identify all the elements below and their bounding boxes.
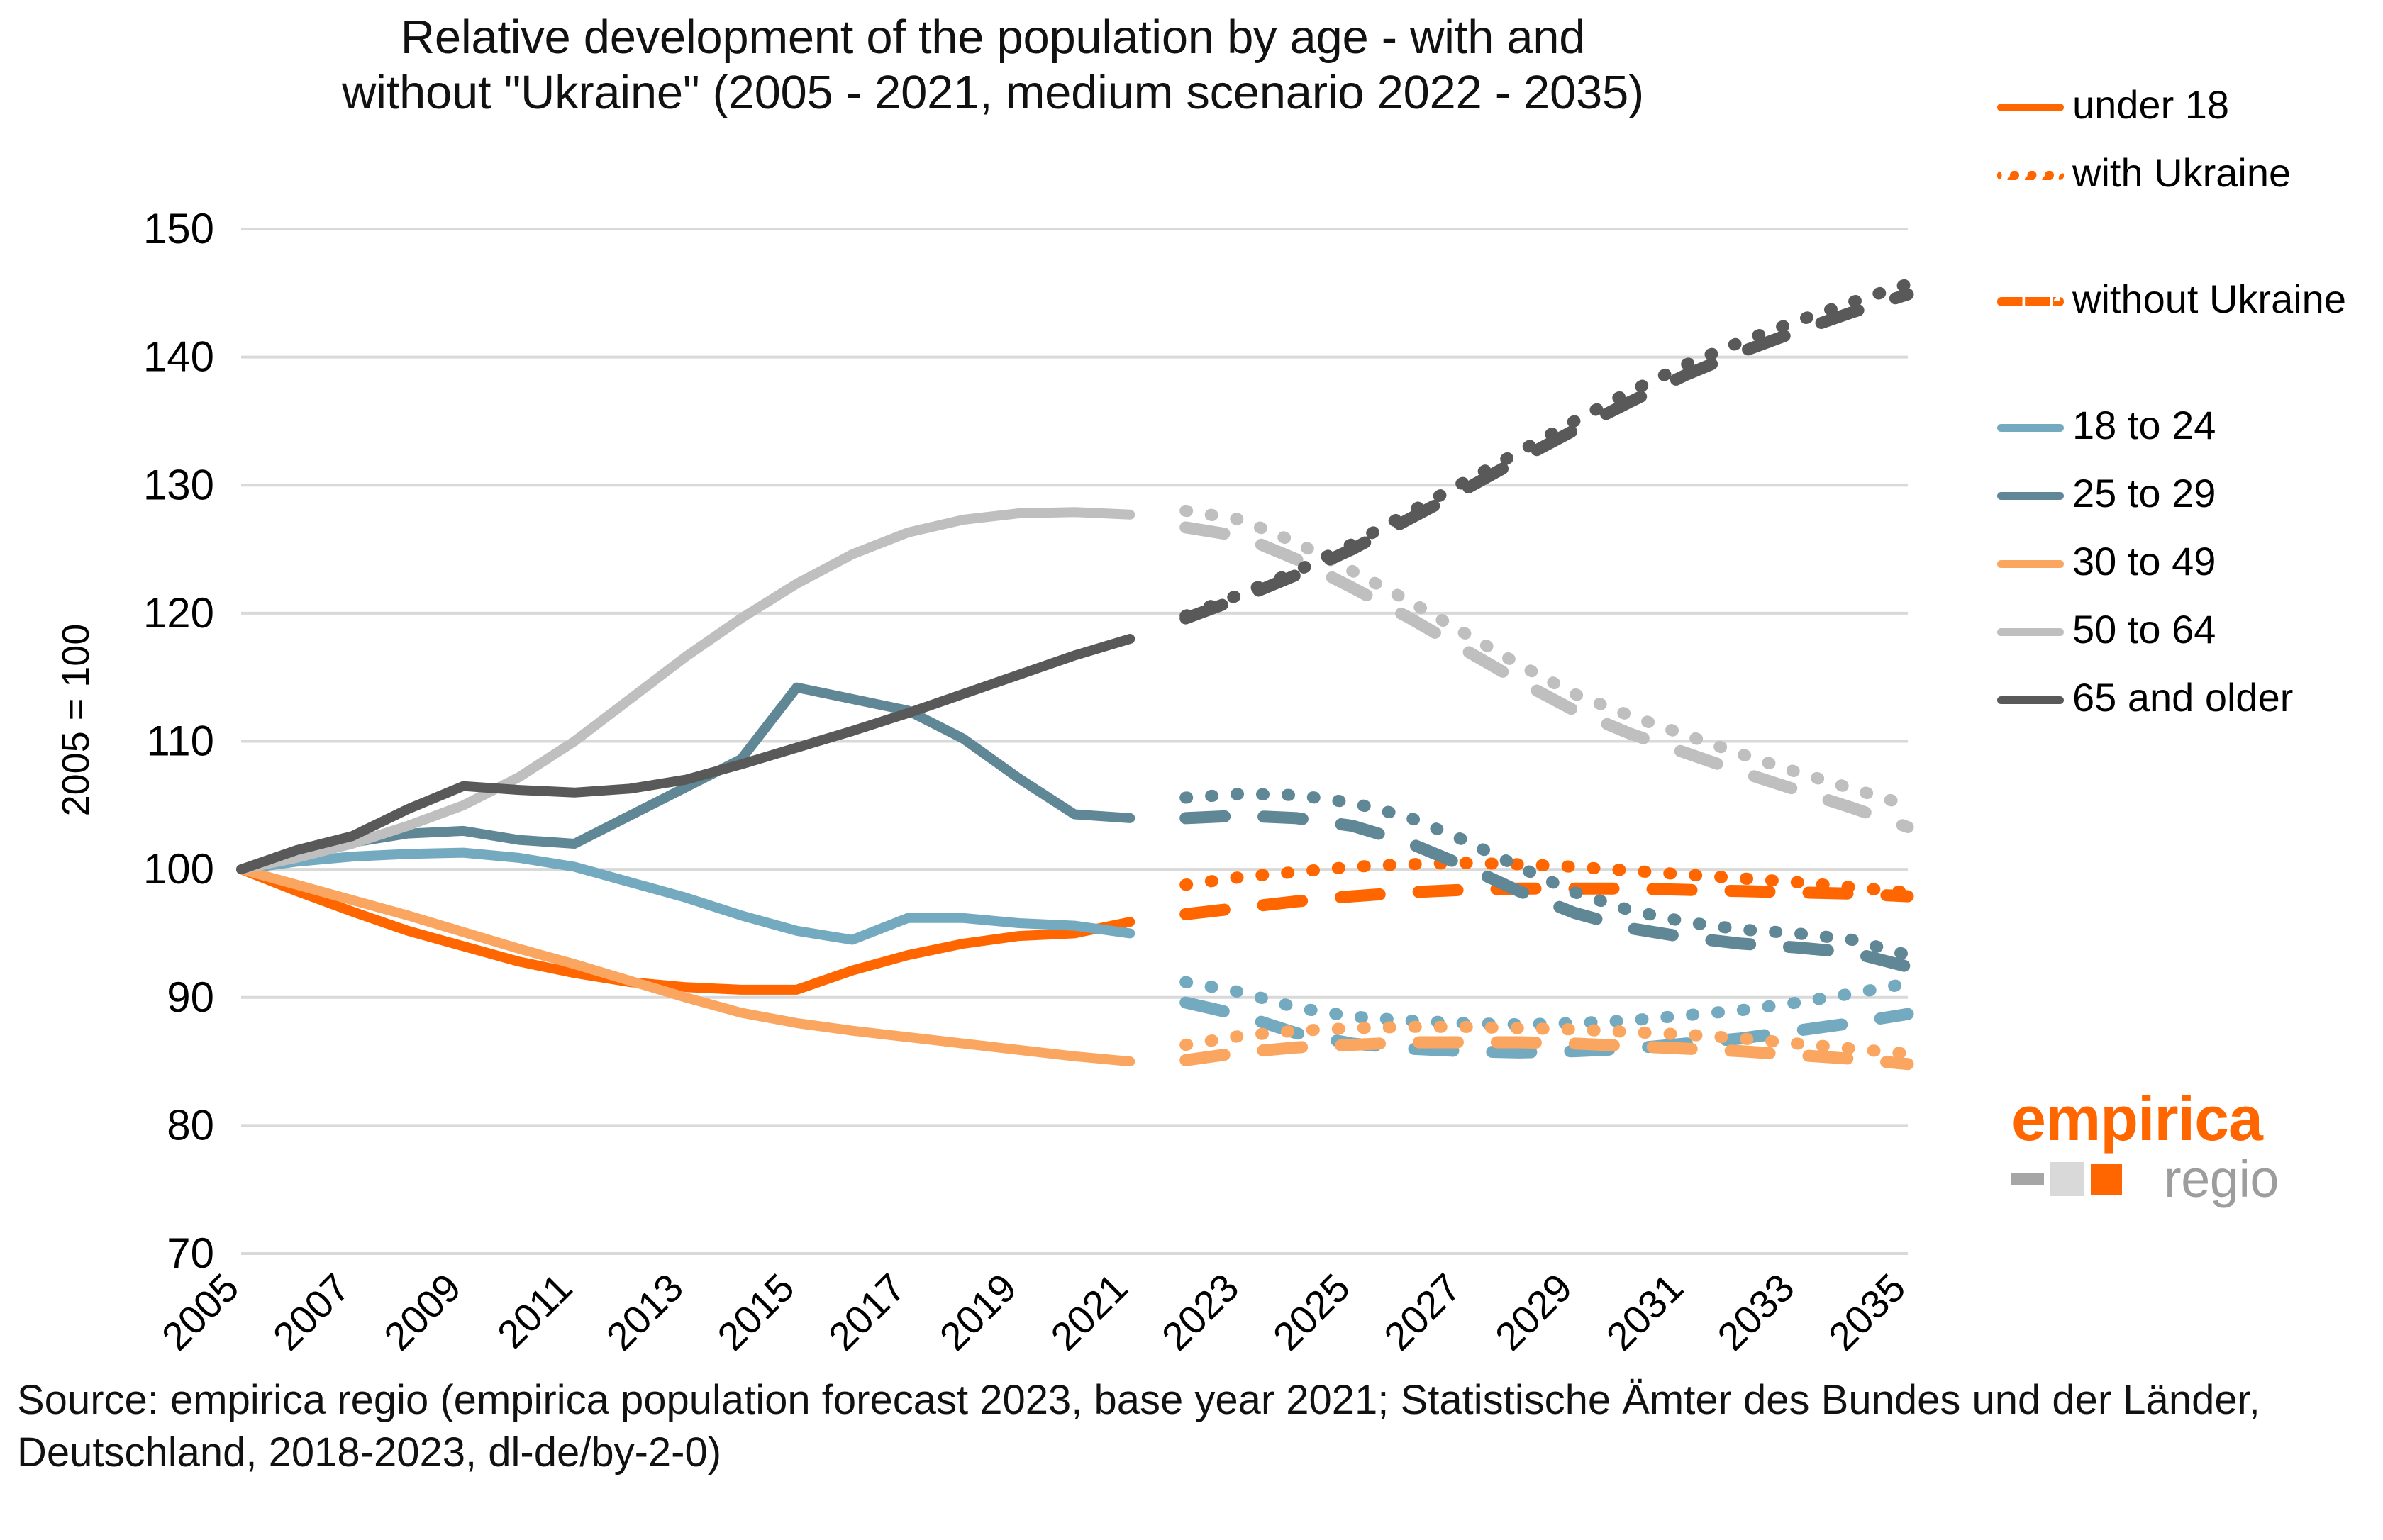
logo-word-empirica: empirica — [2011, 1089, 2380, 1149]
legend-item-without-ukraine[interactable]: without Ukraine — [1992, 278, 2383, 404]
legend-swatch-dotted — [1992, 152, 2070, 199]
legend-label: without Ukraine — [2070, 278, 2346, 320]
x-axis-tick-2009: 2009 — [375, 1265, 470, 1359]
series-line-50-to-64 — [241, 512, 1130, 869]
legend-label: under 18 — [2070, 84, 2229, 125]
legend-swatch-solid — [1992, 676, 2070, 723]
legend-label: 18 to 24 — [2070, 404, 2216, 446]
series-line-18-to-24-with-ukraine — [1186, 982, 1908, 1025]
y-axis-tick-120: 120 — [143, 589, 214, 637]
legend-label: 65 and older — [2070, 676, 2293, 718]
y-axis-title: 2005 = 100 — [55, 624, 97, 817]
x-axis-tick-2013: 2013 — [598, 1265, 692, 1359]
series-line-under-18 — [241, 869, 1130, 990]
x-axis-tick-2017: 2017 — [820, 1265, 914, 1359]
logo-mark-row: regio — [2011, 1154, 2380, 1204]
x-axis-tick-2035: 2035 — [1820, 1265, 1914, 1359]
x-axis-tick-2033: 2033 — [1709, 1265, 1803, 1359]
x-axis-tick-2029: 2029 — [1487, 1265, 1581, 1359]
x-axis-tick-2021: 2021 — [1042, 1265, 1136, 1359]
legend-item-30-to-49[interactable]: 30 to 49 — [1992, 540, 2383, 608]
y-axis-tick-70: 70 — [167, 1229, 214, 1277]
legend-swatch-solid — [1992, 540, 2070, 587]
legend-item-25-to-29[interactable]: 25 to 29 — [1992, 472, 2383, 540]
chart-page: Relative development of the population b… — [0, 0, 2383, 1540]
series-line-25-to-29-without-ukraine — [1186, 815, 1908, 966]
y-axis-tick-130: 130 — [143, 461, 214, 508]
legend-swatch-solid — [1992, 472, 2070, 519]
logo-word-regio: regio — [2164, 1154, 2279, 1204]
y-axis-tick-100: 100 — [143, 845, 214, 893]
logo-square-lightgrey — [2050, 1162, 2084, 1196]
legend-item-65-and-older[interactable]: 65 and older — [1992, 676, 2383, 803]
x-axis-tick-2023: 2023 — [1153, 1265, 1248, 1359]
legend-item-with-ukraine[interactable]: with Ukraine — [1992, 152, 2383, 278]
series-line-under-18-with-ukraine — [1186, 863, 1908, 893]
legend-swatch-solid — [1992, 608, 2070, 655]
y-axis-tick-140: 140 — [143, 333, 214, 381]
series-line-under-18-without-ukraine — [1186, 888, 1908, 914]
legend-label: 50 to 64 — [2070, 608, 2216, 650]
x-axis-tick-2005: 2005 — [153, 1265, 248, 1359]
x-axis-tick-2007: 2007 — [265, 1265, 359, 1359]
logo-square-orange — [2091, 1164, 2122, 1195]
series-line-18-to-24 — [241, 853, 1130, 940]
legend-label: 25 to 29 — [2070, 472, 2216, 514]
legend-label: 30 to 49 — [2070, 540, 2216, 582]
legend-item-under-18[interactable]: under 18 — [1992, 84, 2383, 152]
legend-item-18-to-24[interactable]: 18 to 24 — [1992, 404, 2383, 472]
y-axis-tick-110: 110 — [146, 718, 214, 765]
legend-swatch-solid — [1992, 84, 2070, 130]
x-axis-tick-2025: 2025 — [1265, 1265, 1359, 1359]
x-axis-tick-2031: 2031 — [1598, 1265, 1692, 1359]
logo-square-grey-small — [2011, 1173, 2044, 1185]
x-axis-tick-2027: 2027 — [1375, 1265, 1470, 1359]
legend-label: with Ukraine — [2070, 152, 2291, 194]
legend-item-50-to-64[interactable]: 50 to 64 — [1992, 608, 2383, 676]
series-line-65-and-older-without-ukraine — [1186, 294, 1908, 618]
empirica-regio-logo: empirica regio — [2011, 1089, 2380, 1204]
y-axis-tick-90: 90 — [167, 973, 214, 1021]
chart-legend: under 18with Ukrainewithout Ukraine18 to… — [1992, 84, 2383, 803]
legend-swatch-dashed — [1992, 278, 2070, 325]
x-axis-tick-2015: 2015 — [709, 1265, 803, 1359]
y-axis-tick-150: 150 — [143, 205, 214, 252]
x-axis-tick-2011: 2011 — [489, 1265, 581, 1357]
source-note: Source: empirica regio (empirica populat… — [17, 1374, 2343, 1479]
legend-swatch-solid — [1992, 404, 2070, 451]
x-axis-tick-2019: 2019 — [931, 1265, 1026, 1359]
y-axis-tick-80: 80 — [167, 1101, 214, 1149]
